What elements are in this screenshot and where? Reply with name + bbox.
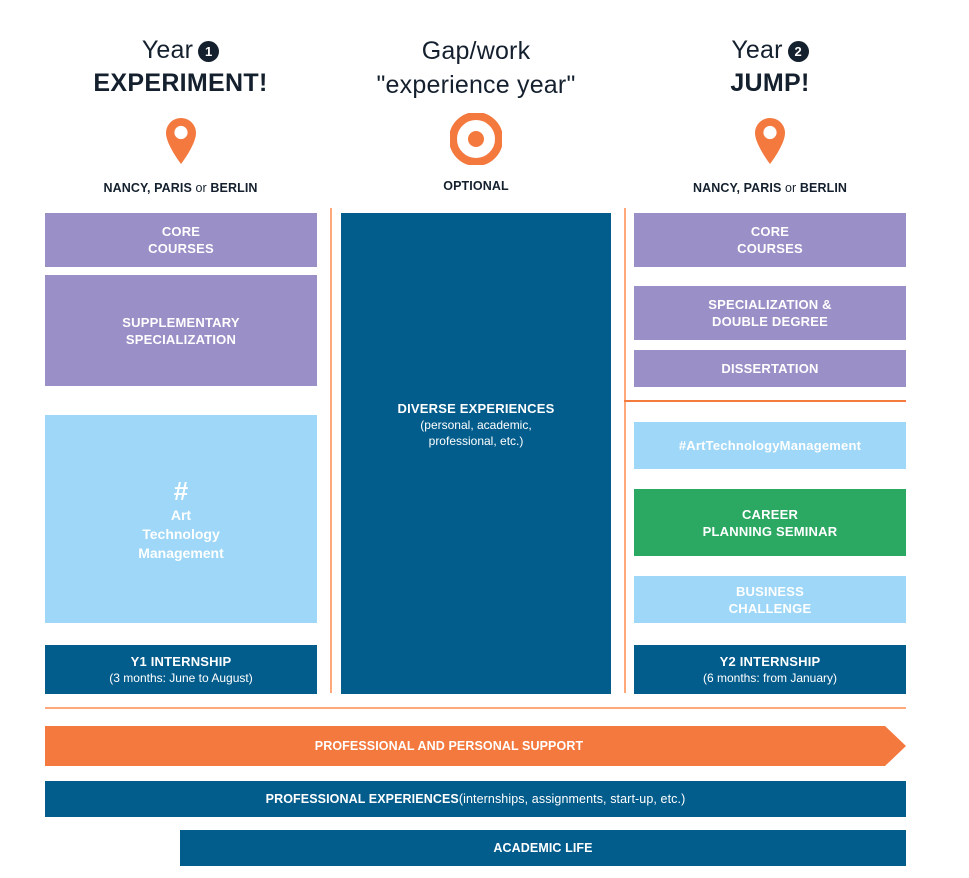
block-specialization-double-degree[interactable]: SPECIALIZATION & DOUBLE DEGREE [634,286,906,340]
location-label-gap: OPTIONAL [341,179,611,193]
block-line: DISSERTATION [721,360,818,377]
block-subtext: (personal, academic, [420,417,531,433]
year-word-1: Year [142,36,193,64]
gap-label: Gap/work [341,34,611,68]
year-word-2: Year [731,36,782,64]
block-business-challenge[interactable]: BUSINESS CHALLENGE [634,576,906,623]
year-label-1: Year1 [44,34,317,66]
block-y1-internship[interactable]: Y1 INTERNSHIP (3 months: June to August) [45,645,317,694]
footer-bar-professional-experiences[interactable]: PROFESSIONAL EXPERIENCES (internships, a… [45,781,906,817]
column-title-2: JUMP! [634,66,906,100]
block-line: #ArtTechnologyManagement [679,437,861,454]
block-line: CHALLENGE [729,600,812,617]
column-header-gap: Gap/work "experience year" OPTIONAL [341,34,611,193]
location-label-2: NANCY, PARIS or BERLIN [634,181,906,195]
location-label-1: NANCY, PARIS or BERLIN [44,181,317,195]
column-header-year2: Year2 JUMP! NANCY, PARIS or BERLIN [634,34,906,195]
gap-subtitle: "experience year" [341,68,611,102]
block-line: Art [171,506,191,525]
block-line: DOUBLE DEGREE [712,313,828,330]
block-diverse-experiences[interactable]: DIVERSE EXPERIENCES (personal, academic,… [341,213,611,694]
infographic-canvas: Year1 EXPERIMENT! NANCY, PARIS or BERLIN… [0,0,969,878]
location-conj-2: or [781,181,799,195]
block-line: SPECIALIZATION & [708,296,832,313]
map-pin-icon [164,117,198,165]
year-badge-1: 1 [198,41,219,62]
location-conj-1: or [192,181,210,195]
column-header-year1: Year1 EXPERIMENT! NANCY, PARIS or BERLIN [44,34,317,195]
block-line: COURSES [148,240,214,257]
block-line: Y1 INTERNSHIP [131,653,232,670]
map-pin-icon-wrap-2 [634,115,906,167]
location-prefix-2: NANCY, PARIS [693,181,781,195]
block-core-courses-y1[interactable]: CORE COURSES [45,213,317,267]
block-line: CORE [751,223,789,240]
footer-bar-professional-and-personal-support[interactable]: PROFESSIONAL AND PERSONAL SUPPORT [45,726,885,766]
target-icon [450,113,502,165]
year-label-2: Year2 [634,34,906,66]
block-line: DIVERSE EXPERIENCES [398,400,555,417]
block-line: Technology [142,525,220,544]
block-line: SUPPLEMENTARY [122,314,239,331]
footer-bar-academic-life[interactable]: ACADEMIC LIFE [180,830,906,866]
block-art-technology-management[interactable]: # Art Technology Management [45,415,317,623]
vertical-divider-right [624,208,626,693]
target-icon-wrap [341,113,611,165]
block-y2-internship[interactable]: Y2 INTERNSHIP (6 months: from January) [634,645,906,694]
vertical-divider-left [330,208,332,693]
column-title-1: EXPERIMENT! [44,66,317,100]
horizontal-divider-year2 [624,400,906,402]
footer-separator [45,707,906,709]
year-badge-2: 2 [788,41,809,62]
location-suffix-1: BERLIN [210,181,257,195]
footer-bar-label-light: (internships, assignments, start-up, etc… [459,792,686,806]
optional-label: OPTIONAL [443,179,508,193]
block-line: Management [138,544,224,563]
block-core-courses-y2[interactable]: CORE COURSES [634,213,906,267]
footer-bar-label-strong: PROFESSIONAL EXPERIENCES [266,792,459,806]
block-line: SPECIALIZATION [126,331,236,348]
block-subtext: professional, etc.) [429,433,524,449]
block-line: BUSINESS [736,583,804,600]
hash-icon: # [174,476,188,506]
location-prefix-1: NANCY, PARIS [103,181,191,195]
footer-bar-label-strong: ACADEMIC LIFE [493,841,592,855]
block-line: COURSES [737,240,803,257]
block-supplementary-specialization[interactable]: SUPPLEMENTARY SPECIALIZATION [45,275,317,386]
block-line: CORE [162,223,200,240]
block-subtext: (3 months: June to August) [109,670,252,686]
block-line: CAREER [742,506,798,523]
block-art-technology-management-hashtag[interactable]: #ArtTechnologyManagement [634,422,906,469]
location-suffix-2: BERLIN [800,181,847,195]
block-line: Y2 INTERNSHIP [720,653,821,670]
map-pin-icon-wrap-1 [44,115,317,167]
block-line: PLANNING SEMINAR [703,523,838,540]
block-career-planning-seminar[interactable]: CAREER PLANNING SEMINAR [634,489,906,556]
arrow-head-icon [885,726,906,766]
map-pin-icon [753,117,787,165]
block-subtext: (6 months: from January) [703,670,837,686]
block-dissertation[interactable]: DISSERTATION [634,350,906,387]
footer-bar-label: PROFESSIONAL AND PERSONAL SUPPORT [315,739,583,753]
